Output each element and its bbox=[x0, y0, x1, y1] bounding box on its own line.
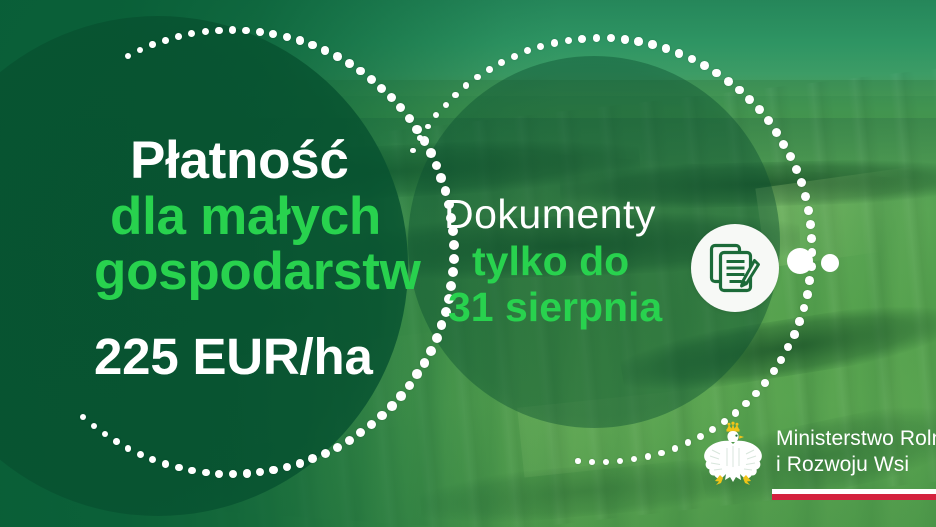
polish-eagle-icon bbox=[700, 420, 766, 494]
documents-pen-icon-badge bbox=[691, 224, 779, 312]
headline-line-2: dla małych bbox=[92, 190, 432, 245]
ministry-logo: Ministerstwo Rolnictwa i Rozwoju Wsi bbox=[700, 420, 936, 494]
decorative-dot-small bbox=[821, 254, 839, 272]
headline-line-1: Płatność bbox=[92, 134, 432, 189]
promo-banner: Płatność dla małych gospodarstw 225 EUR/… bbox=[0, 0, 936, 527]
deadline-block: Dokumenty tylko do 31 sierpnia bbox=[444, 192, 724, 331]
deadline-line-1: Dokumenty bbox=[444, 192, 724, 237]
deadline-line-2: tylko do bbox=[444, 239, 724, 285]
polish-flag-bar bbox=[772, 489, 936, 500]
headline-line-3: gospodarstw bbox=[92, 245, 432, 300]
decorative-dot-large bbox=[787, 248, 813, 274]
ministry-logo-text: Ministerstwo Rolnictwa i Rozwoju Wsi bbox=[776, 420, 936, 479]
payment-amount: 225 EUR/ha bbox=[94, 327, 373, 386]
deadline-line-3: 31 sierpnia bbox=[444, 285, 724, 331]
documents-pen-icon bbox=[705, 238, 765, 298]
ministry-name-line-1: Ministerstwo Rolnictwa bbox=[776, 426, 936, 452]
ministry-name-line-2: i Rozwoju Wsi bbox=[776, 452, 936, 478]
headline: Płatność dla małych gospodarstw bbox=[92, 134, 432, 300]
flag-red-stripe bbox=[772, 494, 936, 500]
